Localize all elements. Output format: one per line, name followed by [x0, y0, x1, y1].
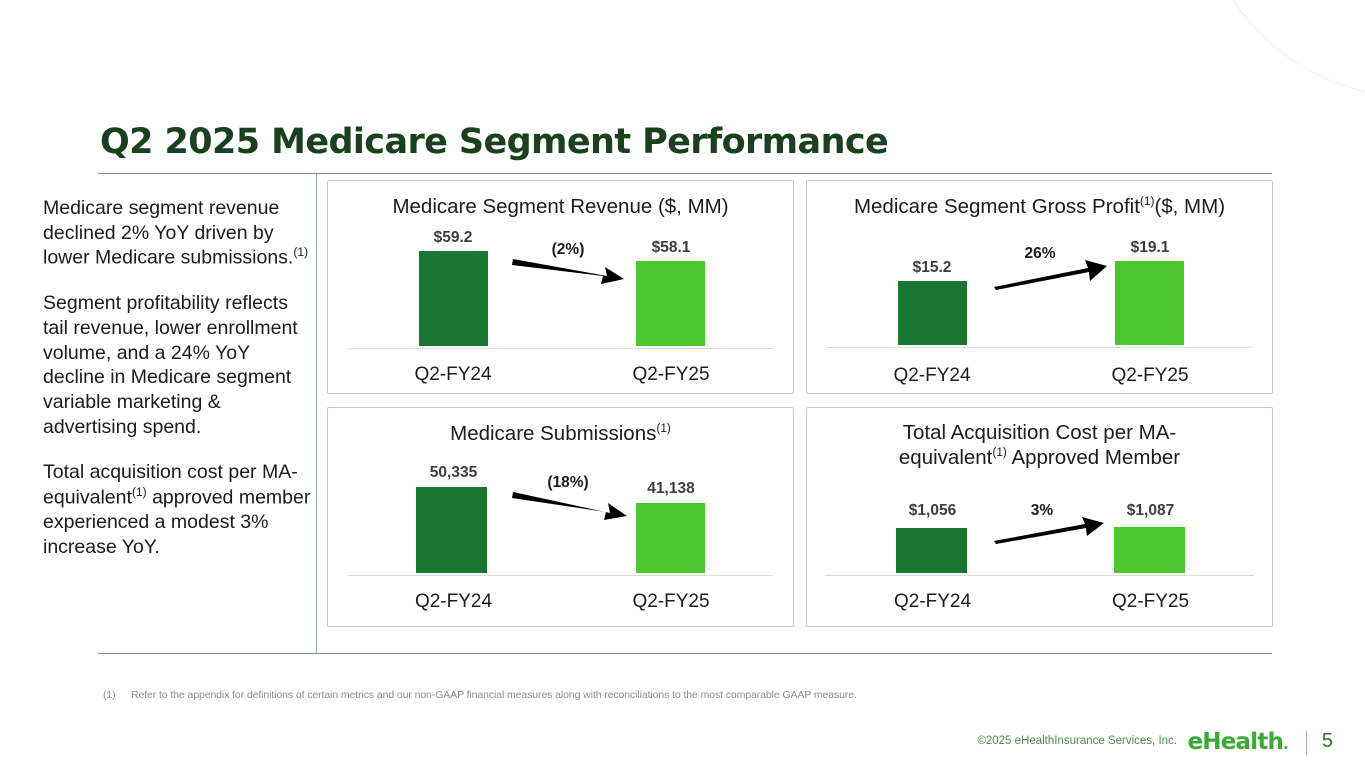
narrative-p1-text: Medicare segment revenue declined 2% YoY… [43, 197, 293, 269]
narrative-paragraph-1: Medicare segment revenue declined 2% YoY… [43, 196, 311, 270]
footer-copyright: ©2025 eHealthInsurance Services, Inc. [977, 735, 1177, 747]
bar-current [636, 503, 705, 573]
bar-value-label-current: $1,087 [1083, 502, 1218, 520]
axis-baseline [348, 348, 773, 349]
narrative-paragraph-3: Total acquisition cost per MA-equivalent… [43, 460, 311, 559]
axis-baseline [348, 575, 773, 576]
chart-plot-gross-profit: $15.2 26% $19.1 Q2-FY24 Q2-FY25 [807, 181, 1272, 393]
bar-value-label-prior: $59.2 [388, 229, 518, 247]
trend-arrow-down-icon [511, 254, 626, 286]
ehealth-logo: eHealth. [1187, 729, 1288, 755]
bar-current [636, 261, 705, 346]
slide-canvas: Q2 2025 Medicare Segment Performance Med… [0, 0, 1365, 768]
category-label-prior: Q2-FY24 [867, 365, 997, 387]
bar-value-label-current: 41,138 [606, 480, 736, 498]
chart-plot-revenue: $59.2 (2%) $58.1 Q2-FY24 Q2-FY25 [328, 181, 793, 393]
logo-health: Health [1202, 729, 1283, 755]
category-label-prior: Q2-FY24 [865, 591, 1000, 613]
bar-prior [896, 528, 967, 573]
logo-dot: . [1283, 735, 1288, 753]
category-label-prior: Q2-FY24 [386, 591, 521, 613]
category-label-current: Q2-FY25 [606, 591, 736, 613]
divider-bottom [98, 653, 1272, 654]
footnote-marker: (1) [103, 689, 131, 701]
narrative-paragraph-2: Segment profitability reflects tail reve… [43, 291, 311, 439]
bar-value-label-current: $58.1 [606, 239, 736, 257]
footer-separator [1306, 731, 1307, 755]
footnote-ref-3: (1) [132, 485, 147, 499]
footnote: (1)Refer to the appendix for definitions… [103, 689, 857, 701]
chart-plot-acquisition-cost: $1,056 3% $1,087 Q2-FY24 Q2-FY25 [807, 408, 1272, 626]
narrative-column: Medicare segment revenue declined 2% YoY… [43, 196, 311, 581]
axis-baseline [825, 575, 1254, 576]
divider-top [98, 173, 1272, 174]
bar-prior [416, 487, 487, 573]
logo-e: e [1187, 729, 1202, 755]
bar-current [1114, 527, 1185, 573]
footnote-text: Refer to the appendix for definitions of… [131, 689, 857, 701]
chart-plot-submissions: 50,335 (18%) 41,138 Q2-FY24 Q2-FY25 [328, 408, 793, 626]
category-label-prior: Q2-FY24 [388, 364, 518, 386]
page-number: 5 [1322, 730, 1333, 753]
page-title: Q2 2025 Medicare Segment Performance [100, 122, 888, 162]
category-label-current: Q2-FY25 [606, 364, 736, 386]
axis-baseline [827, 347, 1252, 348]
bar-prior [419, 251, 488, 346]
chart-panel-revenue: Medicare Segment Revenue ($, MM) $59.2 (… [327, 180, 794, 394]
footnote-ref-1: (1) [293, 245, 308, 259]
trend-arrow-up-icon [993, 257, 1108, 291]
chart-panel-acquisition-cost: Total Acquisition Cost per MA-equivalent… [806, 407, 1273, 627]
bar-value-label-prior: $1,056 [865, 502, 1000, 520]
bar-value-label-prior: $15.2 [867, 259, 997, 277]
divider-vertical [316, 174, 317, 653]
category-label-current: Q2-FY25 [1083, 591, 1218, 613]
chart-panel-gross-profit: Medicare Segment Gross Profit(1)($, MM) … [806, 180, 1273, 394]
chart-panel-submissions: Medicare Submissions(1) 50,335 (18%) 41,… [327, 407, 794, 627]
bar-prior [898, 281, 967, 345]
bar-value-label-current: $19.1 [1085, 239, 1215, 257]
decorative-pink-corner [1198, 0, 1365, 97]
bar-current [1115, 261, 1184, 345]
bar-value-label-prior: 50,335 [386, 464, 521, 482]
category-label-current: Q2-FY25 [1085, 365, 1215, 387]
